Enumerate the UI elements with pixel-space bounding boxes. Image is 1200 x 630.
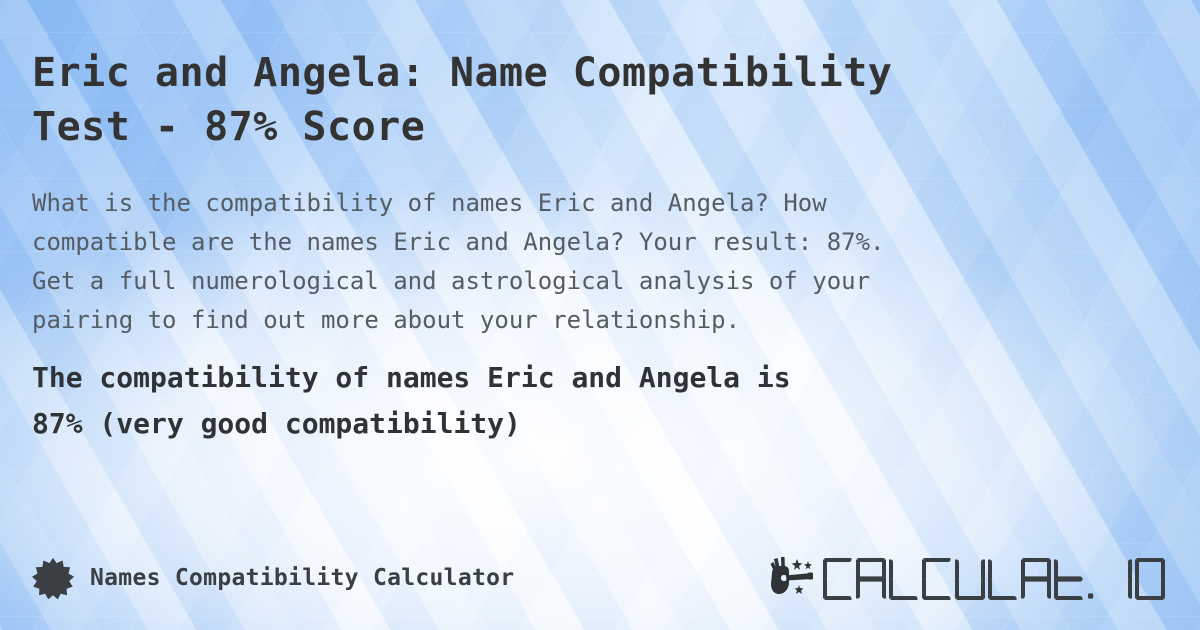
logo-char-l bbox=[988, 558, 1018, 600]
open-graph-card: Eric and Angela: Name Compatibility Test… bbox=[0, 0, 1200, 630]
logo-char-c bbox=[922, 558, 952, 600]
logo-char-a bbox=[1021, 558, 1051, 600]
logo-char-c bbox=[823, 558, 853, 600]
site-logo bbox=[769, 556, 1168, 600]
logo-char-u bbox=[955, 558, 985, 600]
magic-wand-hand-icon bbox=[769, 556, 819, 600]
brand-block: Names Compatibility Calculator bbox=[32, 557, 514, 599]
brand-label: Names Compatibility Calculator bbox=[90, 565, 514, 591]
logo-char-t bbox=[1054, 558, 1084, 600]
logo-wordmark bbox=[823, 556, 1168, 600]
logo-char-dot bbox=[1087, 558, 1099, 600]
card-footer: Names Compatibility Calculator bbox=[32, 550, 1168, 606]
logo-char-i bbox=[1102, 558, 1132, 600]
logo-char-l bbox=[889, 558, 919, 600]
logo-char-a bbox=[856, 558, 886, 600]
starburst-badge-icon bbox=[32, 557, 74, 599]
page-description: What is the compatibility of names Eric … bbox=[32, 184, 1176, 340]
logo-char-o bbox=[1135, 558, 1165, 600]
card-content: Eric and Angela: Name Compatibility Test… bbox=[0, 0, 1200, 630]
compatibility-result-statement: The compatibility of names Eric and Ange… bbox=[32, 355, 1176, 447]
page-title: Eric and Angela: Name Compatibility Test… bbox=[32, 46, 1168, 154]
